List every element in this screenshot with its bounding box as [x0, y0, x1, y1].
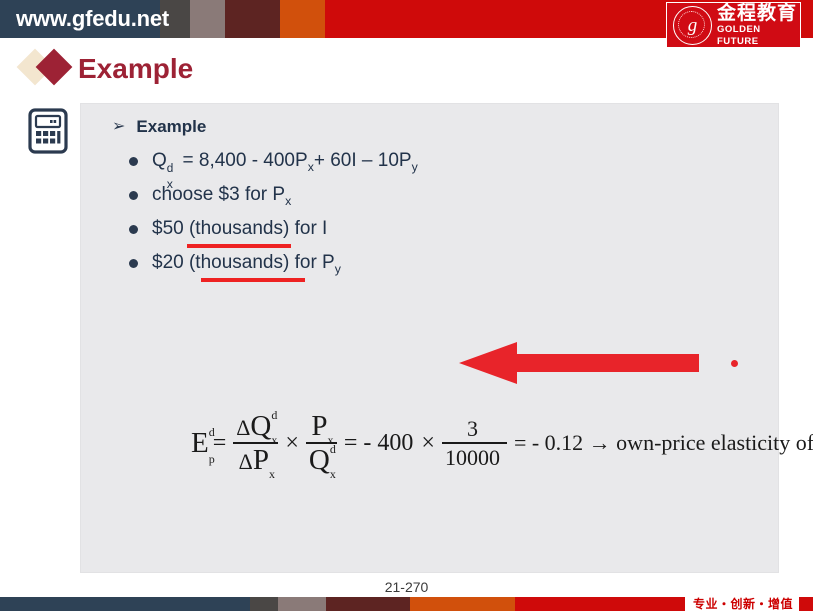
bullet-dot-icon [129, 225, 138, 234]
footer-color-block [326, 597, 410, 611]
equation-lhs-var: Edp [191, 429, 209, 458]
subheading-text: Example [136, 116, 206, 138]
list-item: choose $3 for Px [129, 182, 291, 214]
footer-color-block [250, 597, 278, 611]
bullet-dot-icon [129, 259, 138, 268]
footer-tagline: 专业・创新・增值 [685, 597, 799, 612]
brand-logo: g 金程教育 GOLDEN FUTURE [666, 2, 801, 48]
site-url: www.gfedu.net [16, 5, 169, 33]
header-color-block [190, 0, 225, 38]
page-title: Example [78, 52, 193, 86]
fraction-p-over-q: Px Qdx [306, 412, 337, 475]
content-panel: ➢ Example Qdx = 8,400 - 400Px+ 60I – 10P… [81, 104, 778, 572]
red-underline-annotation [187, 244, 291, 248]
page-number: 21-270 [0, 578, 813, 596]
equals-minus-400: = - 400 [340, 430, 418, 457]
list-item: Qdx = 8,400 - 400Px+ 60I – 10Py [129, 148, 418, 180]
red-dot-annotation [731, 360, 738, 367]
footer-color-block [278, 597, 326, 611]
logo-name-en: GOLDEN FUTURE [717, 24, 800, 48]
fraction-numerator: Px [308, 412, 334, 442]
multiply-sign: × [417, 430, 439, 457]
fraction-numerator: ΔQdx [233, 412, 278, 442]
fraction-denominator: 10000 [442, 444, 507, 470]
header-color-block [280, 0, 325, 38]
bullet-text-choose-price: choose $3 for Px [152, 182, 291, 214]
logo-name-cn: 金程教育 [717, 3, 800, 24]
logo-seal-letter: g [688, 16, 698, 35]
subheading-row: ➢ Example [112, 116, 206, 138]
bullet-text-demand-equation: Qdx = 8,400 - 400Px+ 60I – 10Py [152, 148, 418, 180]
logo-text-group: 金程教育 GOLDEN FUTURE [717, 3, 800, 48]
calculator-icon [28, 108, 68, 154]
fraction-denominator: Qdx [306, 444, 337, 475]
fraction-numerator: 3 [464, 417, 485, 442]
multiply-sign: × [281, 430, 303, 457]
bullet-dot-icon [129, 191, 138, 200]
fraction-three-over-ten-thousand: 3 10000 [442, 417, 507, 470]
equation-result-text: = - 0.12 → own-price elasticity of deman… [510, 430, 813, 456]
chevron-right-icon: ➢ [112, 117, 125, 137]
footer-bar: 专业・创新・增值 [0, 597, 813, 611]
red-underline-annotation [201, 278, 305, 282]
fraction-delta-q-delta-p: ΔQdx ΔPx [233, 412, 278, 475]
fraction-denominator: ΔPx [236, 444, 276, 475]
bullet-dot-icon [129, 157, 138, 166]
bullet-text-income-value: $50 (thousands) for I [152, 216, 327, 242]
equation-lhs: Edp [191, 429, 209, 458]
elasticity-equation: Edp = ΔQdx ΔPx × Px Qdx = - 400 × 3 1000… [191, 412, 813, 475]
left-arrow-annotation [459, 341, 699, 385]
list-item: $50 (thousands) for I [129, 216, 327, 242]
footer-color-block [410, 597, 515, 611]
logo-seal-icon: g [673, 6, 712, 45]
header-color-block [225, 0, 280, 38]
footer-color-block [0, 597, 250, 611]
